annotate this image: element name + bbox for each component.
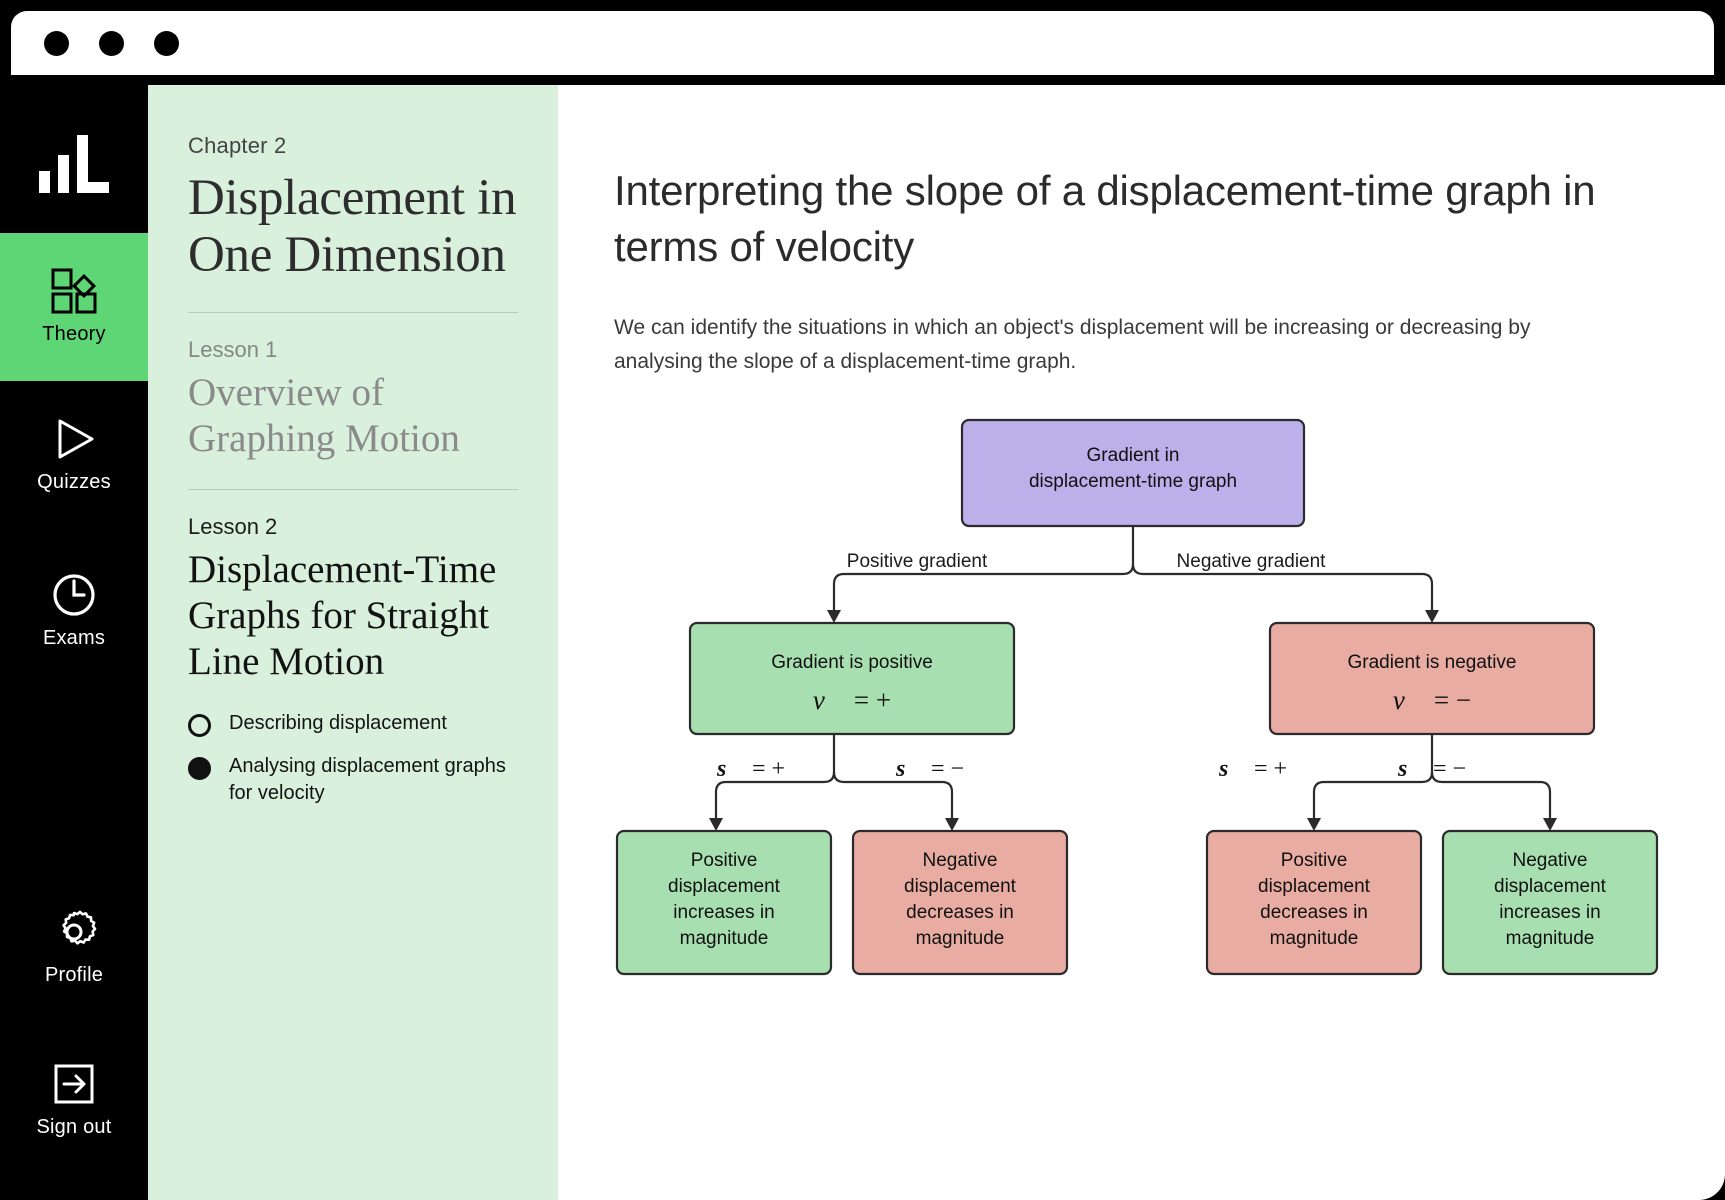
- lesson-item-1[interactable]: Lesson 1 Overview of Graphing Motion: [188, 337, 518, 461]
- node-gradient-negative: Gradient is negative v⃗= −: [1270, 623, 1594, 734]
- lesson-kicker: Lesson 1: [188, 337, 518, 363]
- node-outcome-4: Negative displacement increases in magni…: [1443, 831, 1657, 974]
- sidebar-item-quizzes[interactable]: Quizzes: [0, 381, 148, 529]
- sidebar-item-sign-out[interactable]: Sign out: [0, 1026, 148, 1174]
- maximize-dot[interactable]: [154, 31, 179, 56]
- node-outcome-1-line4: magnitude: [680, 928, 769, 949]
- intro-paragraph: We can identify the situations in which …: [614, 311, 1544, 380]
- node-outcome-3-line4: magnitude: [1270, 928, 1359, 949]
- minimize-dot[interactable]: [99, 31, 124, 56]
- arrow-head: [945, 818, 959, 831]
- node-outcome-2-line3: decreases in: [906, 902, 1014, 923]
- chapter-kicker: Chapter 2: [188, 133, 518, 159]
- lesson-divider: [188, 312, 518, 313]
- node-outcome-4-line1: Negative: [1513, 850, 1588, 871]
- arrow-head: [709, 818, 723, 831]
- blocks-icon: [51, 268, 97, 314]
- lesson-panel: Chapter 2 Displacement in One Dimension …: [148, 85, 558, 1200]
- sidebar-item-label: Theory: [42, 323, 105, 346]
- sidebar-item-label: Quizzes: [37, 471, 111, 494]
- radio-filled-icon[interactable]: [188, 757, 211, 780]
- node-outcome-4-line4: magnitude: [1506, 928, 1595, 949]
- sign-out-icon: [51, 1061, 97, 1107]
- topic-label: Analysing displacement graphs for veloci…: [229, 753, 518, 806]
- node-outcome-2: Negative displacement decreases in magni…: [853, 831, 1067, 974]
- sidebar-item-label: Sign out: [37, 1116, 112, 1139]
- edge-label-positive-gradient: Positive gradient: [847, 551, 988, 572]
- node-outcome-3-line1: Positive: [1281, 850, 1348, 871]
- sidebar-item-theory[interactable]: Theory: [0, 233, 148, 381]
- node-outcome-3-line2: displacement: [1258, 876, 1371, 897]
- node-gradient-positive: Gradient is positive v⃗= +: [690, 623, 1014, 734]
- sidebar-item-exams[interactable]: Exams: [0, 537, 148, 685]
- node-root: Gradient in displacement-time graph: [962, 420, 1304, 526]
- node-gradient-negative-label: Gradient is negative: [1348, 652, 1517, 673]
- gear-icon: [51, 909, 97, 955]
- node-root-line2: displacement-time graph: [1029, 471, 1237, 492]
- window-title-bar: [11, 11, 1714, 75]
- bar-chart-logo: [39, 135, 109, 193]
- close-dot[interactable]: [44, 31, 69, 56]
- play-icon: [51, 416, 97, 462]
- node-outcome-1-line3: increases in: [673, 902, 774, 923]
- topic-item-describing-displacement[interactable]: Describing displacement: [188, 710, 518, 737]
- node-outcome-1-line2: displacement: [668, 876, 781, 897]
- diagram-svg: Gradient in displacement-time graph Posi…: [614, 414, 1674, 994]
- sidebar-item-profile[interactable]: Profile: [0, 874, 148, 1022]
- sidebar: Theory Quizzes Exams: [0, 85, 148, 1200]
- node-outcome-4-line2: displacement: [1494, 876, 1607, 897]
- node-outcome-4-line3: increases in: [1499, 902, 1600, 923]
- node-outcome-1: Positive displacement increases in magni…: [617, 831, 831, 974]
- lesson-kicker: Lesson 2: [188, 514, 518, 540]
- node-outcome-1-line1: Positive: [691, 850, 758, 871]
- edge-label-s-2: s⃗= −: [895, 756, 964, 782]
- radio-circle-icon[interactable]: [188, 714, 211, 737]
- edge-label-s-1: s⃗= +: [716, 756, 785, 782]
- node-gradient-positive-label: Gradient is positive: [771, 652, 933, 673]
- sidebar-item-label: Profile: [45, 964, 103, 987]
- arrow-head: [1307, 818, 1321, 831]
- lesson-title: Displacement-Time Graphs for Straight Li…: [188, 547, 518, 684]
- arrow-head: [827, 610, 841, 623]
- topic-label: Describing displacement: [229, 710, 447, 736]
- sidebar-item-label: Exams: [43, 627, 105, 650]
- node-root-line1: Gradient in: [1087, 445, 1180, 466]
- node-outcome-2-line1: Negative: [923, 850, 998, 871]
- lesson-item-2[interactable]: Lesson 2 Displacement-Time Graphs for St…: [188, 514, 518, 684]
- node-outcome-3: Positive displacement decreases in magni…: [1207, 831, 1421, 974]
- topic-list: Describing displacement Analysing displa…: [188, 710, 518, 806]
- page-title: Interpreting the slope of a displacement…: [614, 163, 1624, 275]
- node-outcome-2-line4: magnitude: [916, 928, 1005, 949]
- chapter-title: Displacement in One Dimension: [188, 170, 518, 284]
- gradient-decision-diagram: Gradient in displacement-time graph Posi…: [614, 414, 1665, 994]
- lesson-divider: [188, 489, 518, 490]
- edge-label-s-3: s⃗= +: [1218, 756, 1287, 782]
- clock-icon: [51, 572, 97, 618]
- arrow-head: [1425, 610, 1439, 623]
- arrow-head: [1543, 818, 1557, 831]
- edge-label-negative-gradient: Negative gradient: [1177, 551, 1327, 572]
- app-window: Theory Quizzes Exams: [0, 0, 1725, 1200]
- main-content: Interpreting the slope of a displacement…: [558, 85, 1725, 1200]
- topic-item-analysing-displacement[interactable]: Analysing displacement graphs for veloci…: [188, 753, 518, 806]
- lesson-title: Overview of Graphing Motion: [188, 370, 518, 461]
- node-outcome-3-line3: decreases in: [1260, 902, 1368, 923]
- node-outcome-2-line2: displacement: [904, 876, 1017, 897]
